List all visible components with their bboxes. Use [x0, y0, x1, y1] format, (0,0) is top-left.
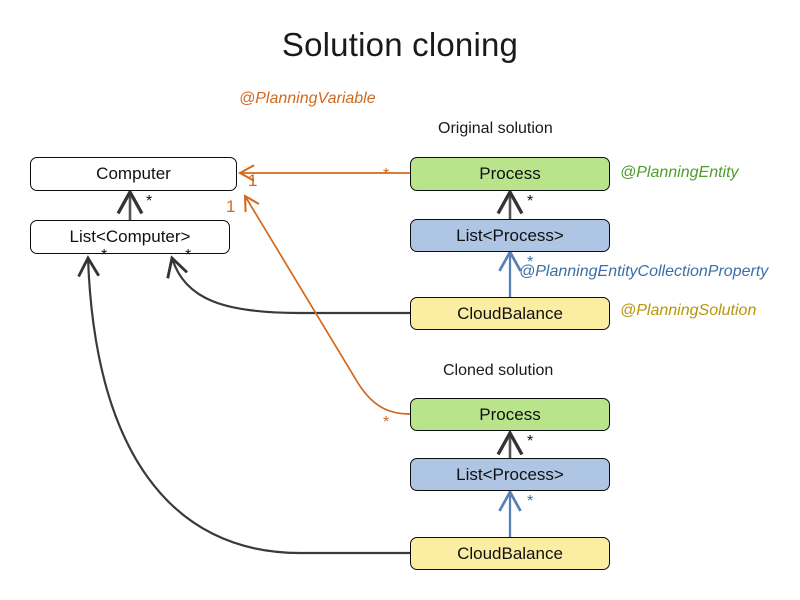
multiplicity-original-process-star: * [383, 167, 389, 183]
multiplicity-listcomputer-from-cloned-cloudbalance: * [101, 248, 107, 264]
node-original-process-label: Process [479, 164, 540, 184]
node-original-list-process[interactable]: List<Process> [410, 219, 610, 252]
annotation-planning-entity: @PlanningEntity [620, 164, 739, 182]
multiplicity-cloned-process-star: * [383, 415, 389, 431]
node-original-process[interactable]: Process [410, 157, 610, 191]
solution-cloning-diagram: Solution cloning @PlanningVariable Origi… [0, 0, 800, 600]
page-title: Solution cloning [0, 26, 800, 64]
multiplicity-cloned-cloudbalance-to-list: * [527, 494, 533, 510]
annotation-planning-variable: @PlanningVariable [239, 90, 376, 108]
edge-cloned-process-to-computer [245, 196, 410, 414]
multiplicity-original-cloudbalance-to-list: * [527, 255, 533, 271]
node-cloned-cloudbalance-label: CloudBalance [457, 544, 563, 564]
node-cloned-process[interactable]: Process [410, 398, 610, 431]
node-original-cloudbalance-label: CloudBalance [457, 304, 563, 324]
section-label-cloned: Cloned solution [443, 362, 553, 380]
node-cloned-cloudbalance[interactable]: CloudBalance [410, 537, 610, 570]
annotation-planning-solution: @PlanningSolution [620, 302, 756, 320]
node-cloned-process-label: Process [479, 405, 540, 425]
multiplicity-cloned-list-to-process: * [527, 434, 533, 450]
edge-original-cloudbalance-to-listcomputer [172, 258, 410, 313]
node-original-list-process-label: List<Process> [456, 226, 564, 246]
multiplicity-listcomputer-from-original-cloudbalance: * [185, 248, 191, 264]
annotation-planning-entity-collection-property: @PlanningEntityCollectionProperty [519, 263, 768, 281]
connector-layer [0, 0, 800, 600]
node-original-cloudbalance[interactable]: CloudBalance [410, 297, 610, 330]
multiplicity-listcomputer-to-computer: * [146, 194, 152, 210]
multiplicity-computer-from-original-process: 1 [248, 172, 257, 189]
node-cloned-list-process-label: List<Process> [456, 465, 564, 485]
node-list-computer-label: List<Computer> [70, 227, 191, 247]
multiplicity-computer-from-cloned-process: 1 [226, 198, 235, 215]
node-computer[interactable]: Computer [30, 157, 237, 191]
node-computer-label: Computer [96, 164, 171, 184]
edge-cloned-cloudbalance-to-listcomputer [88, 258, 410, 553]
node-cloned-list-process[interactable]: List<Process> [410, 458, 610, 491]
node-list-computer[interactable]: List<Computer> [30, 220, 230, 254]
multiplicity-original-list-to-process: * [527, 194, 533, 210]
section-label-original: Original solution [438, 120, 553, 138]
